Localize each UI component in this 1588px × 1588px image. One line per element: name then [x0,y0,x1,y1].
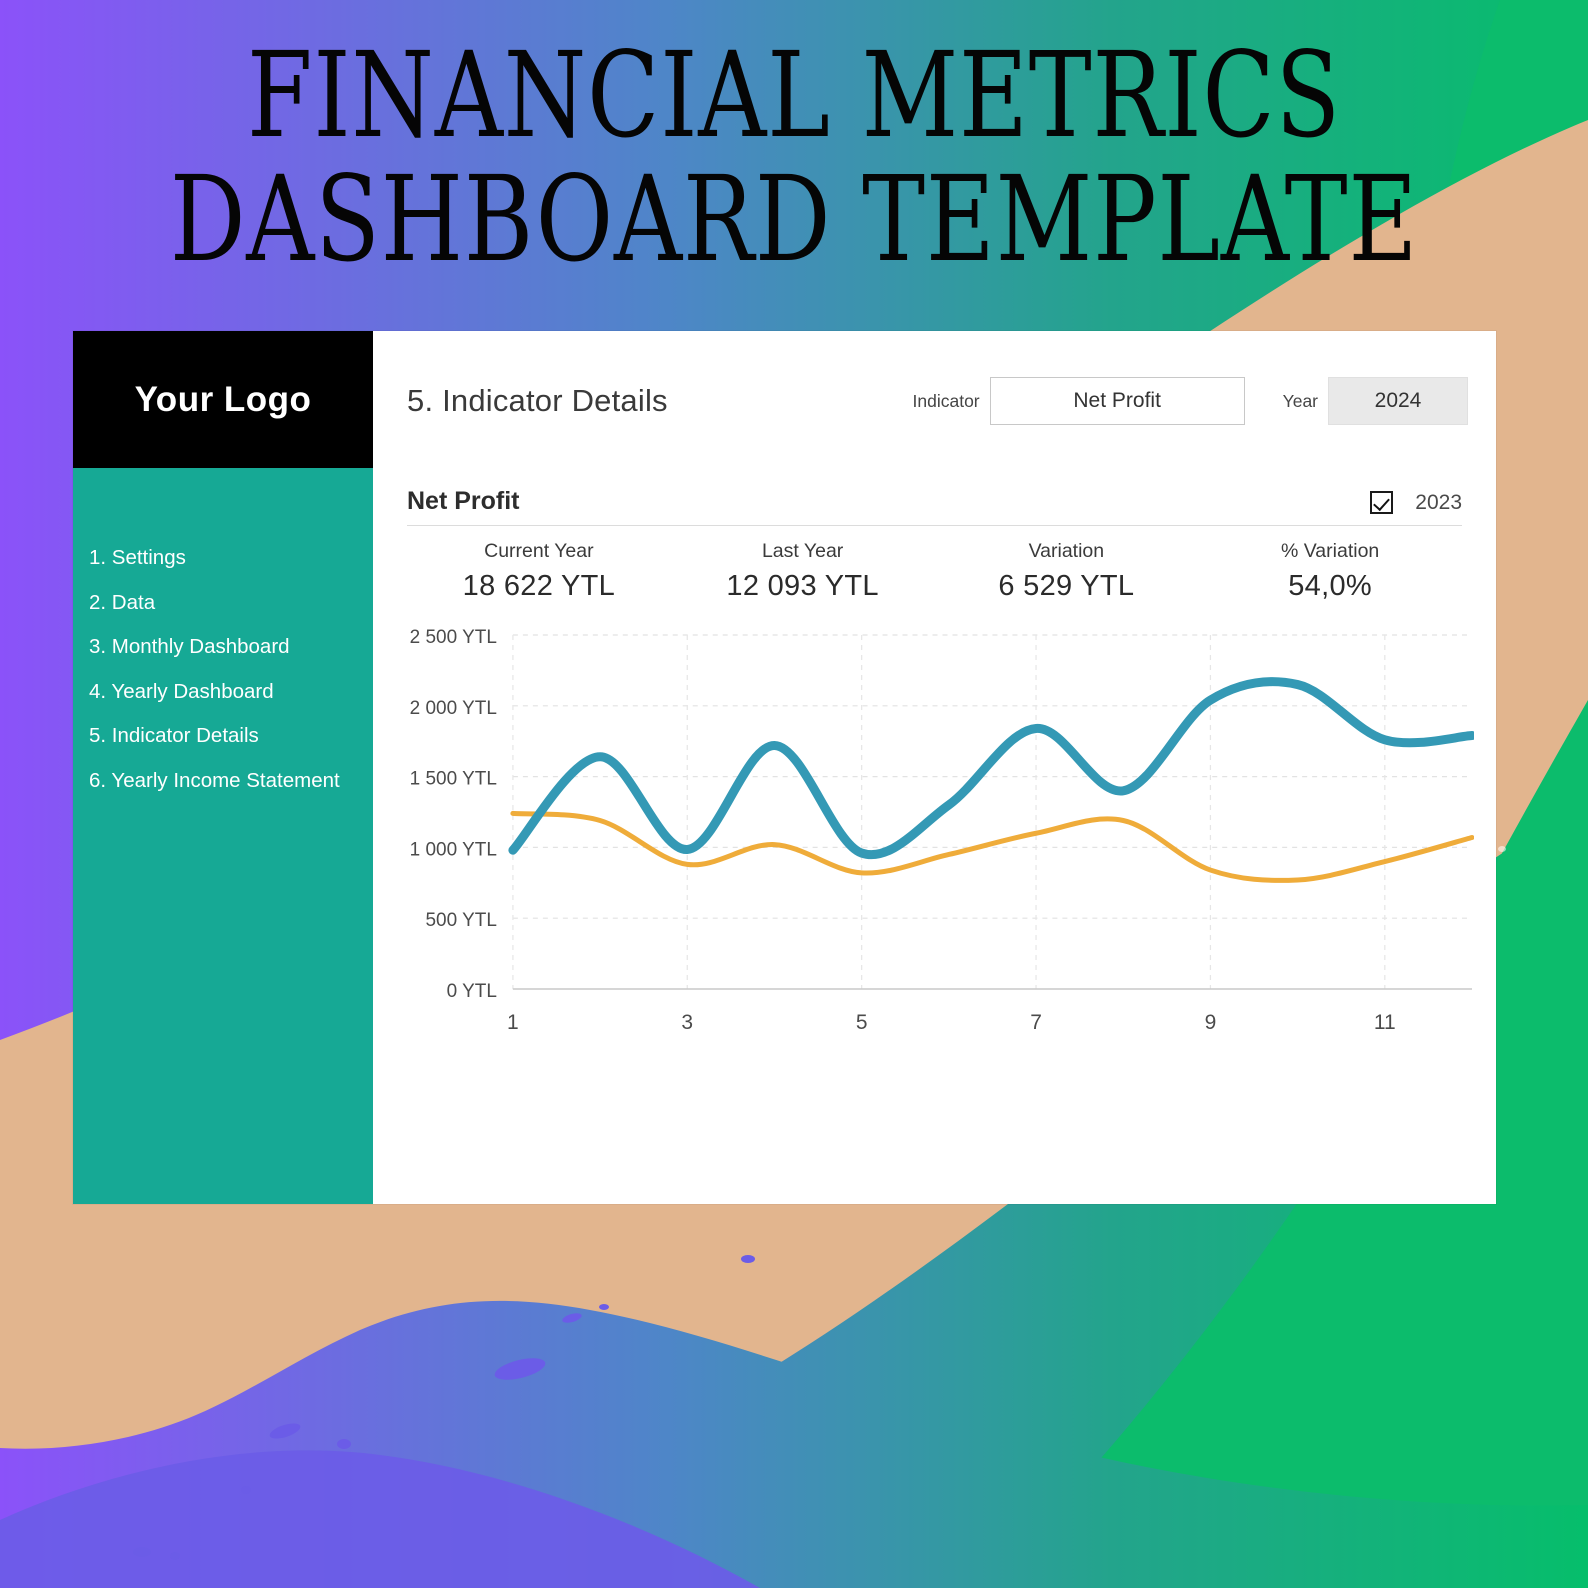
indicator-label: Indicator [913,391,980,412]
paint-speckle [1498,846,1506,852]
sidebar-item-yearly-dashboard[interactable]: 4. Yearly Dashboard [73,670,373,715]
logo-block: Your Logo [73,331,373,468]
kpi-variation: Variation 6 529 YTL [935,540,1199,603]
kpi-value: 18 622 YTL [407,570,671,603]
kpi-label: Current Year [407,540,671,563]
paint-speckle [599,1304,609,1310]
x-axis-tick-label: 7 [1030,1011,1042,1034]
sidebar-item-yearly-income-statement[interactable]: 6. Yearly Income Statement [73,759,373,804]
y-axis-tick-label: 1 000 YTL [410,839,497,860]
indicator-section-header: Net Profit 2023 [407,487,1462,526]
promo-title: FINANCIAL METRICS DASHBOARD TEMPLATE [159,34,1429,282]
x-axis-tick-label: 1 [507,1011,519,1034]
paint-speckle [170,1552,180,1560]
y-axis-tick-label: 2 000 YTL [410,698,497,719]
sidebar-item-label: 3. Monthly Dashboard [89,635,290,658]
paint-speckle [337,1439,351,1449]
logo-text: Your Logo [135,380,312,420]
page-title: 5. Indicator Details [407,383,668,419]
kpi-label: % Variation [1198,540,1462,563]
indicator-input[interactable]: Net Profit [990,377,1245,425]
y-axis-tick-label: 1 500 YTL [410,769,497,790]
kpi-value: 6 529 YTL [935,570,1199,603]
sidebar-item-data[interactable]: 2. Data [73,581,373,626]
sidebar-item-indicator-details[interactable]: 5. Indicator Details [73,714,373,759]
sidebar-item-monthly-dashboard[interactable]: 3. Monthly Dashboard [73,625,373,670]
x-axis-tick-label: 3 [681,1011,693,1034]
kpi-label: Variation [935,540,1199,563]
sidebar-item-label: 6. Yearly Income Statement [89,769,340,792]
year-label: Year [1283,391,1318,412]
sidebar-item-label: 5. Indicator Details [89,724,259,747]
indicator-selector: Indicator Net Profit [913,377,1245,425]
x-axis-tick-label: 11 [1374,1011,1396,1034]
kpi-label: Last Year [671,540,935,563]
y-axis-tick-label: 500 YTL [426,910,497,931]
y-axis-tick-label: 2 500 YTL [410,627,497,648]
x-axis-tick-label: 5 [856,1011,868,1034]
kpi-value: 12 093 YTL [671,570,935,603]
chart-canvas: 0 YTL500 YTL1 000 YTL1 500 YTL2 000 YTL2… [395,617,1474,1037]
sidebar-item-label: 2. Data [89,591,155,614]
indicator-name: Net Profit [407,487,520,516]
kpi-row: Current Year 18 622 YTL Last Year 12 093… [407,540,1462,603]
sidebar-item-label: 1. Settings [89,546,186,569]
compare-year-label: 2023 [1415,491,1462,515]
kpi-current-year: Current Year 18 622 YTL [407,540,671,603]
paint-speckle [241,1486,251,1494]
sidebar-nav: 1. Settings 2. Data 3. Monthly Dashboard… [73,468,373,803]
sidebar: Your Logo 1. Settings 2. Data 3. Monthly… [73,331,373,1204]
sidebar-item-settings[interactable]: 1. Settings [73,536,373,581]
sidebar-item-label: 4. Yearly Dashboard [89,680,274,703]
indicator-line-chart: 0 YTL500 YTL1 000 YTL1 500 YTL2 000 YTL2… [395,617,1474,1037]
series-line-2024 [513,682,1472,855]
kpi-percent-variation: % Variation 54,0% [1198,540,1462,603]
x-axis-tick-label: 9 [1205,1011,1217,1034]
dashboard-window: Your Logo 1. Settings 2. Data 3. Monthly… [73,331,1496,1204]
main-panel: 5. Indicator Details Indicator Net Profi… [373,331,1496,1204]
paint-speckle [741,1255,755,1263]
kpi-last-year: Last Year 12 093 YTL [671,540,935,603]
y-axis-tick-label: 0 YTL [447,981,497,1002]
year-selector: Year 2024 [1245,377,1468,425]
paint-speckle [133,1547,151,1557]
kpi-value: 54,0% [1198,570,1462,603]
page-header: 5. Indicator Details Indicator Net Profi… [373,331,1496,471]
year-input[interactable]: 2024 [1328,377,1468,425]
compare-year-checkbox[interactable] [1370,491,1393,514]
